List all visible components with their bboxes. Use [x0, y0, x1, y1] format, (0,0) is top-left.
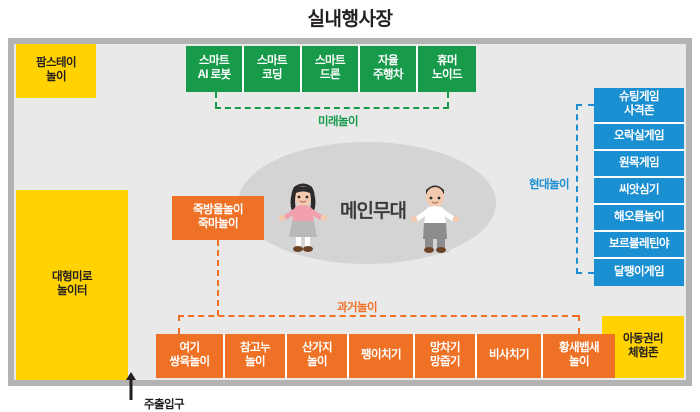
booth-future-4[interactable]: 휴머 노이드: [418, 46, 476, 92]
connector-past-jukbangul: [217, 240, 219, 316]
main-stage-label: 메인무대: [318, 196, 428, 223]
booth-past-0-line1: 여기: [170, 342, 210, 356]
booth-modern-5[interactable]: 보르볼레틴야: [594, 232, 684, 259]
connector-past-left: [178, 315, 180, 334]
zone-jukbangul-line1: 죽방울놀이: [193, 204, 243, 218]
booth-past-6-line1: 황새뱁새: [559, 342, 599, 356]
zone-maze-line2: 놀이터: [52, 285, 92, 299]
booth-past-6[interactable]: 황새뱁새 놀이: [543, 334, 615, 378]
booth-past-0-line2: 쌍육놀이: [170, 356, 210, 370]
booth-past-3[interactable]: 팽이치기: [349, 334, 415, 378]
booth-past-4[interactable]: 망차기 망줍기: [415, 334, 477, 378]
zone-maze-playground[interactable]: 대형미로 놀이터: [16, 190, 128, 380]
connector-modern-bottom: [576, 272, 594, 274]
booth-past-4-line2: 망줍기: [430, 356, 460, 370]
booth-past-1-line2: 놀이: [240, 356, 270, 370]
booth-future-3[interactable]: 자율 주행차: [360, 46, 418, 92]
booth-past-0[interactable]: 여기 쌍육놀이: [156, 334, 225, 378]
booth-future-2-line1: 스마트: [315, 55, 345, 69]
booth-future-1-line1: 스마트: [257, 55, 287, 69]
booth-past-2[interactable]: 산가지 놀이: [287, 334, 349, 378]
group-label-future: 미래놀이: [283, 113, 393, 129]
venue-map: 실내행사장: [0, 0, 700, 412]
booth-past-1-line1: 참고누: [240, 342, 270, 356]
connector-future-left: [215, 92, 217, 108]
booth-modern-4[interactable]: 해오름놀이: [594, 205, 684, 232]
booth-past-2-line1: 산가지: [302, 342, 332, 356]
booth-past-2-line2: 놀이: [302, 356, 332, 370]
group-label-past: 과거놀이: [302, 299, 412, 315]
booth-modern-2[interactable]: 원목게임: [594, 151, 684, 178]
connector-future-bar: [215, 107, 449, 109]
booth-modern-6-line1: 달팽이게임: [614, 266, 664, 280]
zone-maze-line1: 대형미로: [52, 271, 92, 285]
entrance-label: 주출입구: [104, 396, 224, 412]
booth-modern-2-line1: 원목게임: [619, 157, 659, 171]
booth-future-0[interactable]: 스마트 AI 로봇: [186, 46, 244, 92]
zone-farmstay-line2: 놀이: [36, 71, 76, 85]
booth-past-1[interactable]: 참고누 놀이: [225, 334, 287, 378]
booth-modern-5-line1: 보르볼레틴야: [609, 238, 669, 252]
booth-modern-0[interactable]: 슈팅게임 사격존: [594, 88, 684, 124]
booth-future-1-line2: 코딩: [257, 69, 287, 83]
zone-farmstay[interactable]: 팜스테이 놀이: [16, 44, 96, 98]
connector-future-right: [447, 92, 449, 108]
zone-child-rights-line2: 체험존: [623, 347, 663, 361]
booth-modern-1-line1: 오락실게임: [614, 130, 664, 144]
booth-future-2-line2: 드론: [315, 69, 345, 83]
booth-modern-1[interactable]: 오락실게임: [594, 124, 684, 151]
connector-past-right: [578, 315, 580, 334]
booth-future-1[interactable]: 스마트 코딩: [244, 46, 302, 92]
booth-past-4-line1: 망차기: [430, 342, 460, 356]
booth-future-2[interactable]: 스마트 드론: [302, 46, 360, 92]
booth-past-3-line1: 팽이치기: [361, 349, 401, 363]
booth-modern-6[interactable]: 달팽이게임: [594, 259, 684, 286]
booth-past-5[interactable]: 비사치기: [477, 334, 543, 378]
booth-modern-4-line1: 해오름놀이: [614, 211, 664, 225]
zone-jukbangul-line2: 죽마놀이: [193, 218, 243, 232]
zone-farmstay-line1: 팜스테이: [36, 57, 76, 71]
booth-modern-3[interactable]: 씨앗심기: [594, 178, 684, 205]
booth-past-6-line2: 놀이: [559, 356, 599, 370]
booth-future-4-line2: 노이드: [432, 69, 462, 83]
connector-modern-top: [576, 104, 594, 106]
page-title: 실내행사장: [0, 4, 700, 31]
booth-future-0-line2: AI 로봇: [198, 69, 231, 83]
group-label-modern: 현대놀이: [513, 176, 585, 192]
booth-future-0-line1: 스마트: [198, 55, 231, 69]
connector-past-bar: [178, 315, 578, 317]
booth-past-5-line1: 비사치기: [489, 349, 529, 363]
zone-child-rights-line1: 아동권리: [623, 333, 663, 347]
booth-future-3-line1: 자율: [373, 55, 403, 69]
booth-future-4-line1: 휴머: [432, 55, 462, 69]
zone-jukbangul[interactable]: 죽방울놀이 죽마놀이: [172, 196, 264, 240]
booth-modern-0-line1: 슈팅게임: [619, 91, 659, 105]
booth-modern-3-line1: 씨앗심기: [619, 184, 659, 198]
booth-future-3-line2: 주행차: [373, 69, 403, 83]
booth-modern-0-line2: 사격존: [619, 105, 659, 119]
